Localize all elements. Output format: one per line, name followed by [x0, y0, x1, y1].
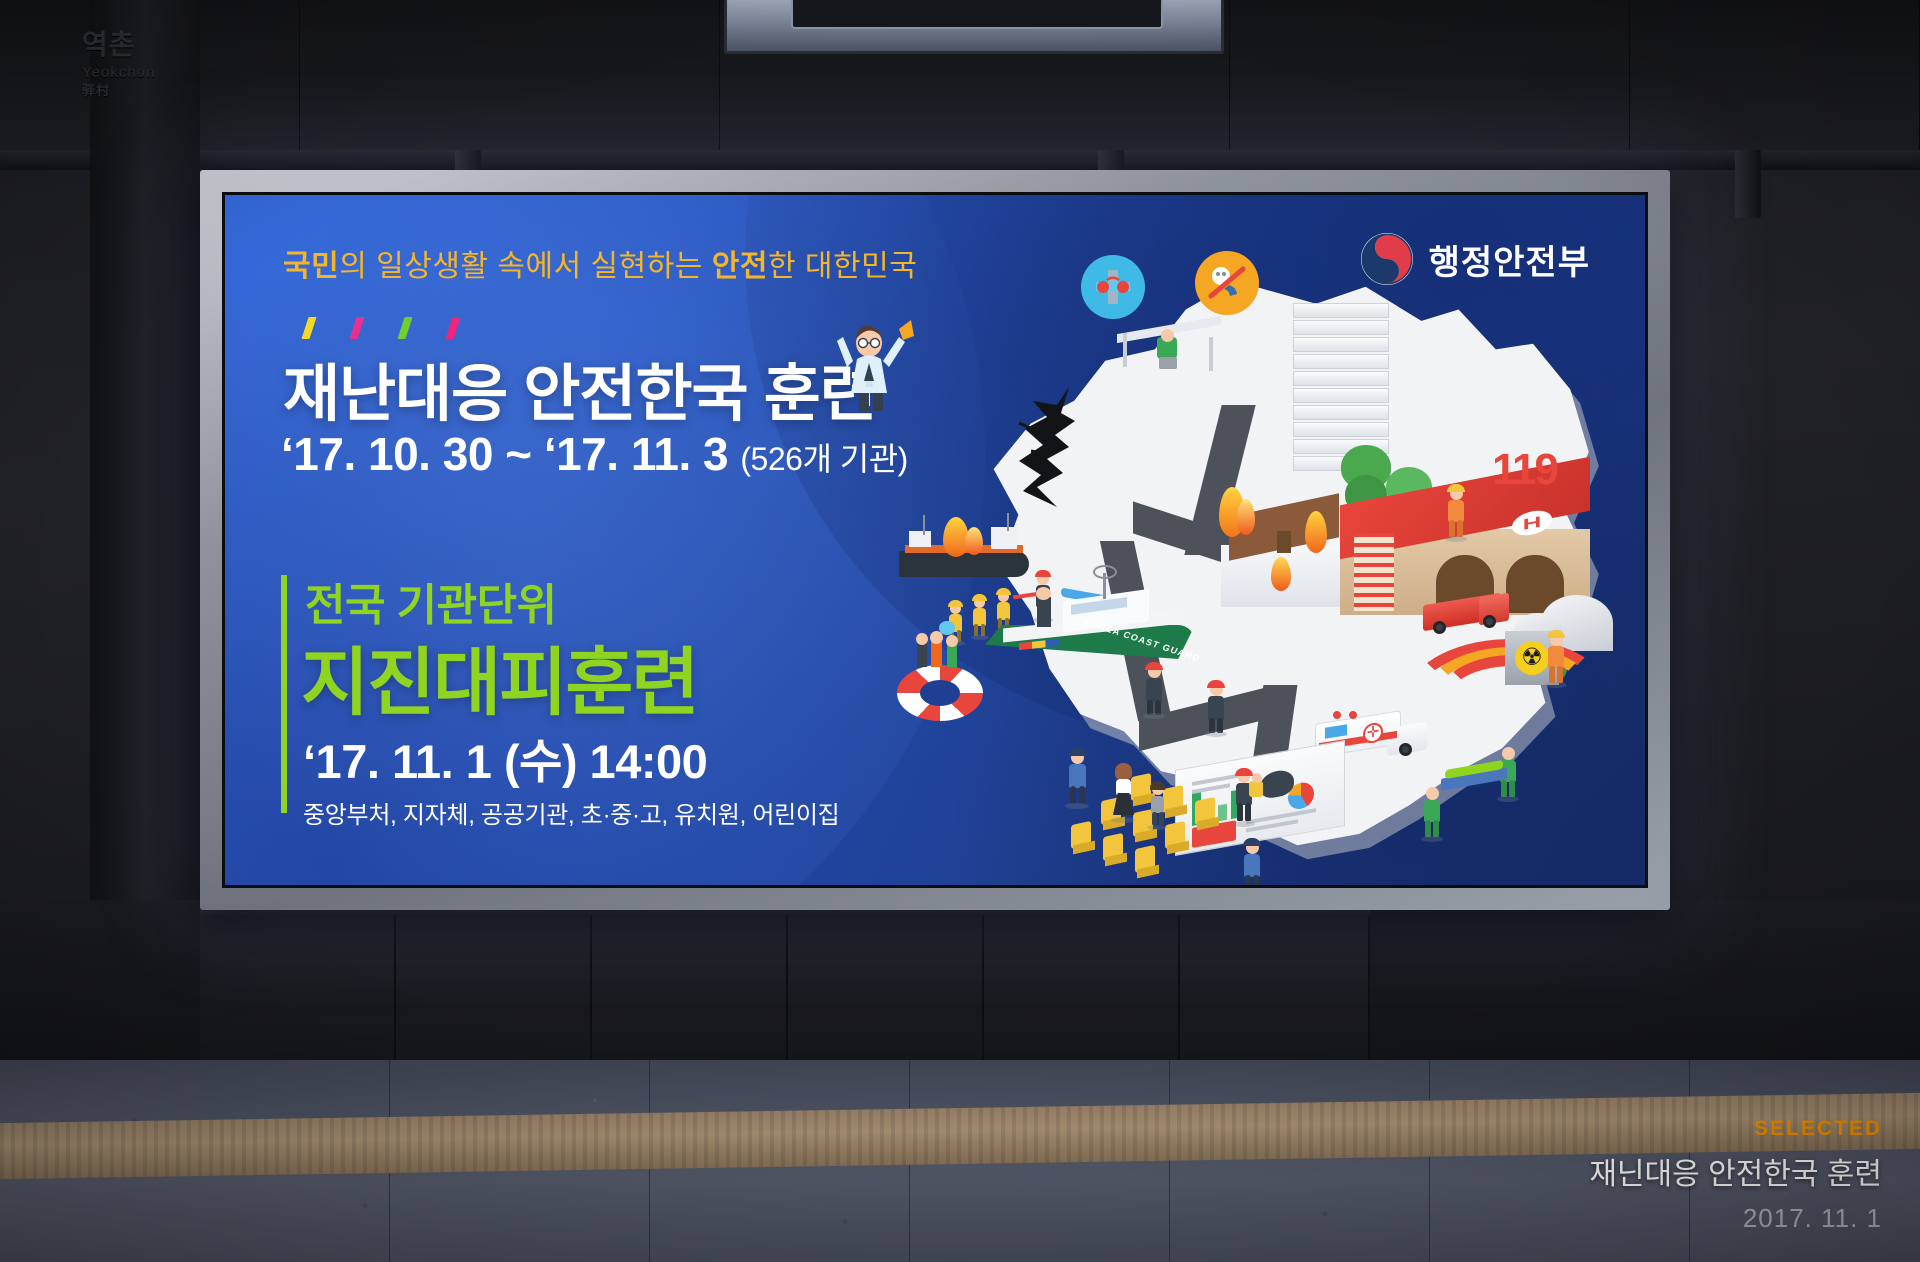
fire-station-number: 119 [1492, 445, 1557, 495]
caption-date: 2017. 11. 1 [1589, 1203, 1882, 1234]
station-name-cn: 驿村 [82, 84, 202, 98]
lower-wall [0, 900, 1920, 1060]
korea-coast-guard-ship: KOREA COAST GUARD [985, 575, 1225, 685]
lightbox-billboard: 국민의 일상생활 속에서 실현하는 안전한 대한민국 행정안전부 [200, 170, 1670, 910]
radiation-warning-icon: ☢ [1515, 641, 1549, 675]
ceiling-support-post [1735, 150, 1761, 218]
period-note: (526개 기관) [740, 441, 907, 477]
drill-period: ‘17. 10. 30 ~ ‘17. 11. 3 (526개 기관) [281, 427, 908, 481]
tick-green [397, 317, 412, 339]
accent-tick-marks [305, 317, 457, 339]
tick-magenta [349, 317, 364, 339]
photo-caption: SELECTED 재닌대응 안전한국 훈련 2017. 11. 1 [1589, 1117, 1882, 1234]
rescuer-carrying-person [1233, 771, 1255, 823]
rescue-worker-orange [1545, 633, 1567, 685]
civilian-woman [1111, 765, 1135, 821]
station-name-sign: 역촌 Yeokchon 驿村 [82, 30, 202, 99]
ceiling-light-fixture [724, 0, 1224, 54]
caption-title: 재닌대응 안전한국 훈련 [1589, 1149, 1882, 1193]
safety-drill-poster: 국민의 일상생활 속에서 실현하는 안전한 대한민국 행정안전부 [225, 195, 1645, 885]
green-accent-bar [281, 575, 287, 813]
station-photo-scene: 역촌 Yeokchon 驿村 국민의 일상 [0, 0, 1920, 1262]
civilian-child [1147, 783, 1167, 829]
subtitle-large: 지진대피훈련 [301, 623, 697, 730]
poster-headline: 재난대응 안전한국 훈련 [283, 343, 876, 433]
selected-label: SELECTED [1589, 1117, 1882, 1141]
drill-targets: 중앙부처, 지자체, 공공기관, 초·중·고, 유치원, 어린이집 [303, 795, 839, 830]
burning-house [1215, 495, 1355, 615]
period-range: ‘17. 10. 30 ~ ‘17. 11. 3 [281, 428, 728, 480]
unplug-electricity-icon [1195, 251, 1259, 315]
station-ceiling [0, 0, 1920, 150]
gas-valve-shutoff-icon [1081, 255, 1145, 319]
tagline-segment-1: 국민 [283, 250, 339, 283]
paramedic-green [1421, 787, 1443, 839]
firefighter [1205, 683, 1227, 733]
life-ring-with-survivors [897, 665, 983, 721]
tagline-segment-3: 안전 [712, 250, 768, 283]
police-officer [1065, 751, 1089, 805]
isometric-illustration: 119 H [885, 195, 1645, 885]
ceiling-beam [0, 150, 1920, 170]
rescue-worker-orange [1445, 487, 1467, 539]
police-officer [1241, 841, 1263, 885]
duck-cover-hold-scene [1117, 311, 1227, 381]
station-name-en: Yeokchon [82, 65, 202, 82]
poster-tagline: 국민의 일상생활 속에서 실현하는 안전한 대한민국 [283, 241, 917, 285]
tagline-segment-2: 의 일상생활 속에서 실현하는 [339, 250, 712, 283]
station-name-ko: 역촌 [82, 30, 202, 61]
drill-datetime: ‘17. 11. 1 (수) 14:00 [303, 723, 707, 792]
